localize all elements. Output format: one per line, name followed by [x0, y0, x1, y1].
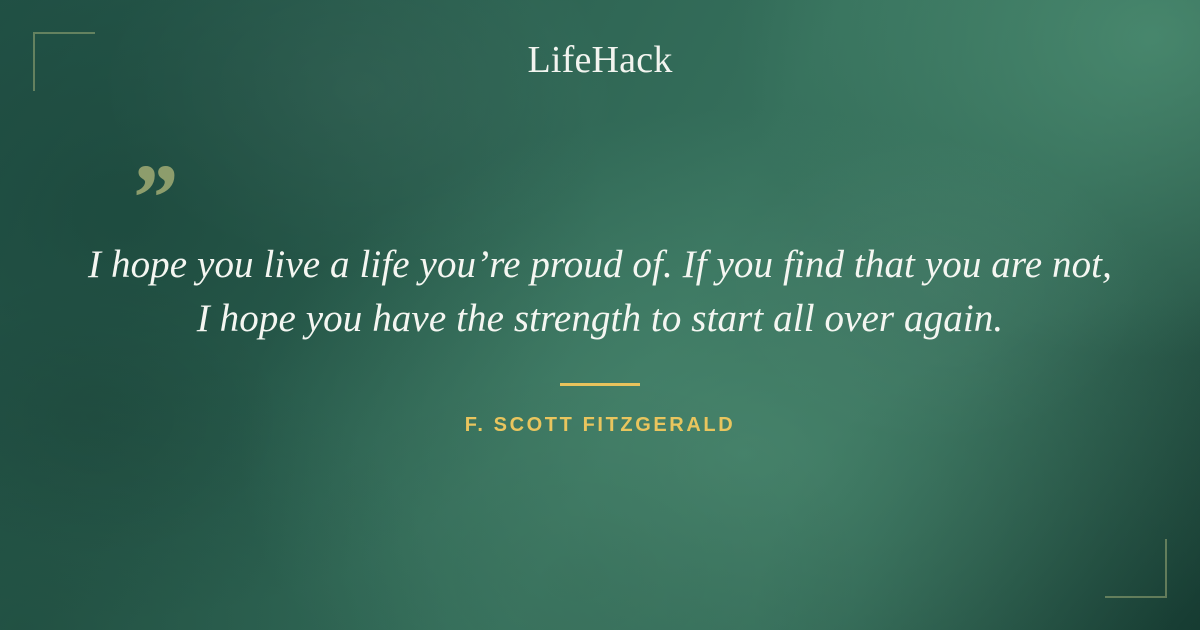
gold-divider — [560, 383, 640, 386]
quote-text: I hope you live a life you’re proud of. … — [80, 238, 1120, 346]
quote-card: LifeHack ” I hope you live a life you’re… — [0, 0, 1200, 630]
corner-bracket-bottom-right-icon — [1105, 539, 1167, 598]
quote-mark-icon: ” — [128, 150, 176, 246]
quote-author: F. SCOTT FITZGERALD — [0, 412, 1200, 438]
brand-logo: LifeHack — [0, 38, 1200, 82]
